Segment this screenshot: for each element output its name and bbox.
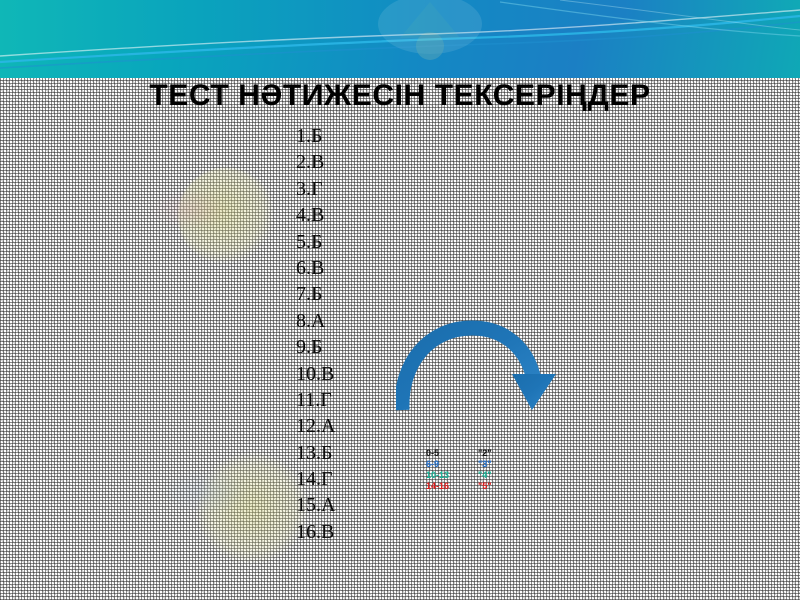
grade-mark: "3" [478, 459, 492, 470]
watermark-smudge-top [150, 190, 230, 230]
list-item: 12.А [296, 413, 426, 439]
page-title: ТЕСТ НӘТИЖЕСІН ТЕКСЕРІҢДЕР [0, 79, 800, 113]
list-item: 6.В [296, 255, 426, 281]
grade-mark: "2" [478, 448, 492, 459]
score-range: 14-16 [426, 481, 478, 492]
table-row: 14-16 "5" [426, 481, 536, 492]
grade-mark: "5" [478, 481, 492, 492]
watermark-smudge-bottom [160, 470, 250, 514]
institution-logo-watermark [330, 0, 530, 74]
slide-canvas: ТЕСТ НӘТИЖЕСІН ТЕКСЕРІҢДЕР 1.Б 2.В 3.Г 4… [0, 0, 800, 600]
score-range: 0-5 [426, 448, 478, 459]
score-range: 6-9 [426, 459, 478, 470]
table-row: 0-5 "2" [426, 448, 536, 459]
list-item: 2.В [296, 149, 426, 175]
list-item: 4.В [296, 202, 426, 228]
list-item: 15.А [296, 492, 426, 518]
list-item: 1.Б [296, 123, 426, 149]
list-item: 7.Б [296, 281, 426, 307]
list-item: 14.Г [296, 466, 426, 492]
table-row: 10-13 "4" [426, 470, 536, 481]
grading-scale-table: 0-5 "2" 6-9 "3" 10-13 "4" 14-16 "5" [426, 448, 536, 492]
list-item: 3.Г [296, 176, 426, 202]
grade-mark: "4" [478, 470, 492, 481]
list-item: 16.В [296, 519, 426, 545]
list-item: 13.Б [296, 440, 426, 466]
list-item: 5.Б [296, 229, 426, 255]
table-row: 6-9 "3" [426, 459, 536, 470]
curved-arrow-icon [396, 318, 560, 412]
score-range: 10-13 [426, 470, 478, 481]
